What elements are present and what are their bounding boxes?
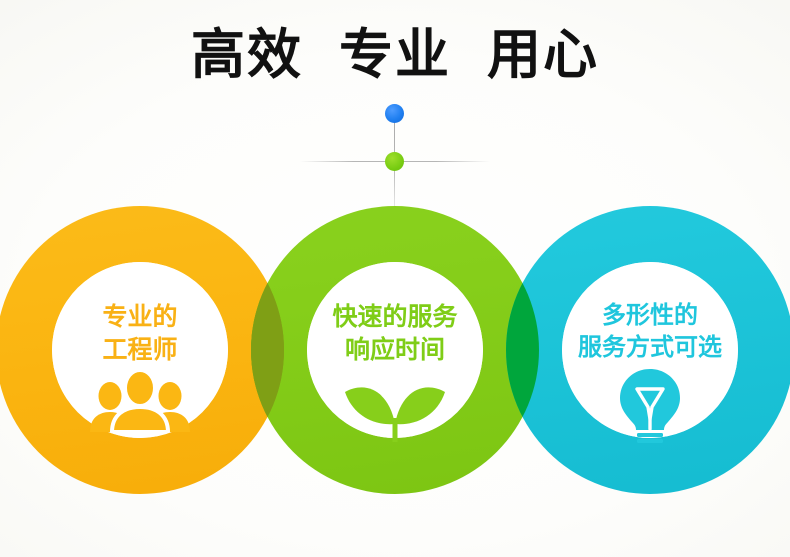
ring-orange-inner-disc — [52, 262, 228, 438]
ring-cyan-inner-disc — [562, 262, 738, 438]
infographic-canvas: 高效专业用心 — [0, 0, 790, 557]
venn-rings-group — [0, 0, 790, 557]
ring-green-inner-disc — [307, 262, 483, 438]
